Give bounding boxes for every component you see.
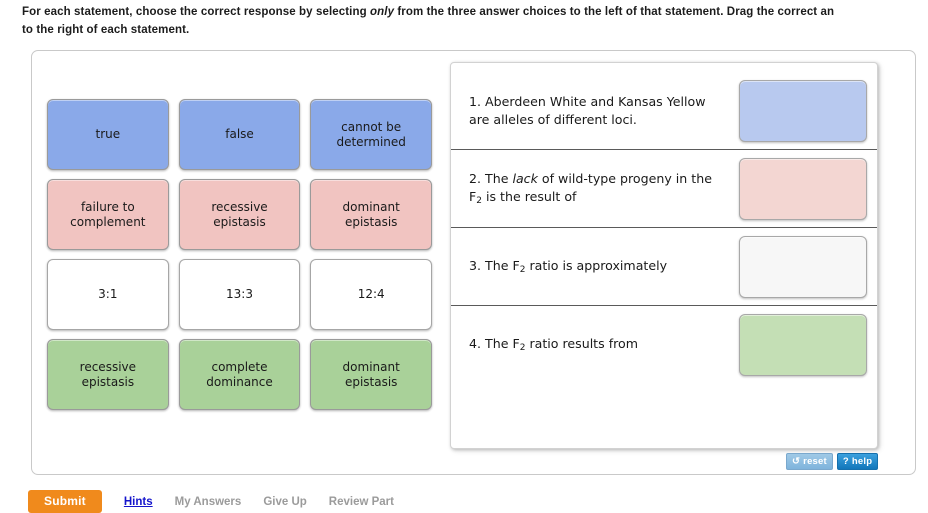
answer-choice-bank: true false cannot be determined failure … xyxy=(47,99,432,419)
answer-row-blue: true false cannot be determined xyxy=(47,99,432,170)
dropzone-statement-3[interactable] xyxy=(739,236,867,298)
answer-tile-ratio-13-3[interactable]: 13:3 xyxy=(179,259,301,330)
dropzone-statement-1[interactable] xyxy=(739,80,867,142)
answer-tile-ratio-12-4[interactable]: 12:4 xyxy=(310,259,432,330)
answer-row-white: 3:1 13:3 12:4 xyxy=(47,259,432,330)
answer-tile-ratio-3-1[interactable]: 3:1 xyxy=(47,259,169,330)
answer-row-green: recessive epistasis complete dominance d… xyxy=(47,339,432,410)
help-button-label: help xyxy=(852,456,872,467)
answer-tile-false[interactable]: false xyxy=(179,99,301,170)
answer-tile-recessive-epistasis-green[interactable]: recessive epistasis xyxy=(47,339,169,410)
statement-text-1: 1. Aberdeen White and Kansas Yellow are … xyxy=(469,93,739,128)
reset-circular-arrow-icon: ↺ xyxy=(792,457,800,467)
question-mark-icon: ? xyxy=(843,457,849,467)
statement-text-4: 4. The F2 ratio results from xyxy=(469,335,739,354)
dropzone-statement-2[interactable] xyxy=(739,158,867,220)
instructions-text: For each statement, choose the correct r… xyxy=(22,4,928,40)
instructions-emphasis: only xyxy=(370,6,394,18)
statement-row-3: 3. The F2 ratio is approximately xyxy=(451,228,877,306)
answer-tile-cannot-be-determined[interactable]: cannot be determined xyxy=(310,99,432,170)
hints-link[interactable]: Hints xyxy=(124,496,153,508)
statement-row-4: 4. The F2 ratio results from xyxy=(451,306,877,384)
reset-button-label: reset xyxy=(803,456,827,467)
instructions-part-1: For each statement, choose the correct r… xyxy=(22,6,370,18)
statement-number-4: 4. xyxy=(469,336,481,351)
statement-number-2: 2. xyxy=(469,171,481,186)
statement-text-2: 2. The lack of wild-type progeny in the … xyxy=(469,170,739,207)
instructions-part-2: from the three answer choices to the lef… xyxy=(394,6,834,18)
reset-button[interactable]: ↺ reset xyxy=(786,453,833,470)
statement-number-1: 1. xyxy=(469,94,481,109)
panel-tool-buttons: ↺ reset ? help xyxy=(786,453,878,470)
instructions-line-2: to the right of each statement. xyxy=(22,22,928,40)
dropzone-statement-4[interactable] xyxy=(739,314,867,376)
answer-tile-dominant-epistasis-pink[interactable]: dominant epistasis xyxy=(310,179,432,250)
statements-panel: 1. Aberdeen White and Kansas Yellow are … xyxy=(450,62,878,449)
give-up-link[interactable]: Give Up xyxy=(263,496,306,508)
help-button[interactable]: ? help xyxy=(837,453,878,470)
answer-row-pink: failure to complement recessive epistasi… xyxy=(47,179,432,250)
statement-row-2: 2. The lack of wild-type progeny in the … xyxy=(451,150,877,228)
statement-row-1: 1. Aberdeen White and Kansas Yellow are … xyxy=(451,72,877,150)
review-part-link[interactable]: Review Part xyxy=(329,496,394,508)
answer-tile-complete-dominance[interactable]: complete dominance xyxy=(179,339,301,410)
statement-text-3: 3. The F2 ratio is approximately xyxy=(469,257,739,276)
answer-tile-recessive-epistasis-pink[interactable]: recessive epistasis xyxy=(179,179,301,250)
answer-tile-failure-to-complement[interactable]: failure to complement xyxy=(47,179,169,250)
my-answers-link[interactable]: My Answers xyxy=(175,496,242,508)
answer-tile-true[interactable]: true xyxy=(47,99,169,170)
statement-number-3: 3. xyxy=(469,258,481,273)
answer-tile-dominant-epistasis-green[interactable]: dominant epistasis xyxy=(310,339,432,410)
